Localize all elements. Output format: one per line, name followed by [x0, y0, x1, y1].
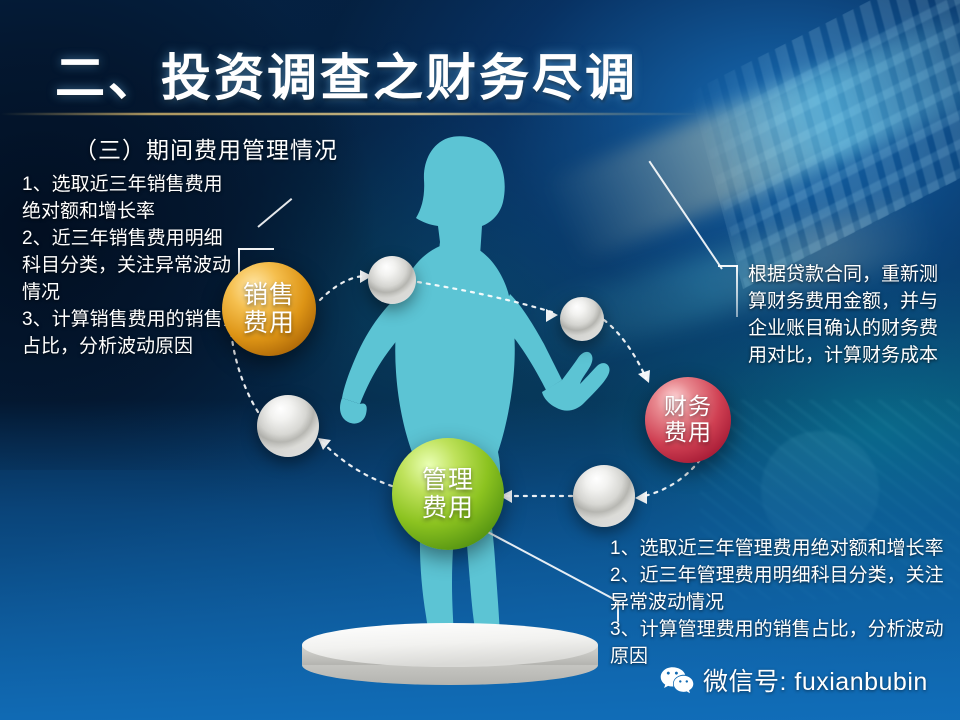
callout-line: 2、近三年管理费用明细科目分类，关注异常波动情况	[610, 563, 955, 617]
node-silver-2[interactable]	[560, 297, 604, 341]
callout-line: 1、选取近三年销售费用绝对额和增长率	[22, 172, 234, 226]
slide-title: 二、投资调查之财务尽调	[55, 38, 638, 110]
title-divider	[0, 113, 700, 115]
callout-line: 3、计算销售费用的销售占比，分析波动原因	[22, 307, 234, 361]
node-silver-3[interactable]	[257, 395, 319, 457]
node-admin-label-line2: 费用	[422, 494, 474, 522]
slide-subtitle: （三）期间费用管理情况	[74, 131, 338, 165]
wechat-icon	[660, 666, 694, 694]
pedestal-disc	[300, 617, 600, 687]
callout-text-admin: 1、选取近三年管理费用绝对额和增长率2、近三年管理费用明细科目分类，关注异常波动…	[610, 536, 955, 671]
leader-line-sales-horizontal	[238, 248, 274, 250]
node-admin-expense[interactable]: 管理 费用	[392, 438, 504, 550]
node-admin-label-line1: 管理	[422, 466, 474, 494]
node-silver-4[interactable]	[573, 465, 635, 527]
node-sales-label-line2: 费用	[243, 309, 295, 337]
node-finance-label-line1: 财务	[664, 394, 712, 420]
callout-line: 1、选取近三年管理费用绝对额和增长率	[610, 536, 955, 563]
leader-line-finance-vertical	[736, 265, 738, 317]
watermark: 微信号: fuxianbubin	[660, 662, 928, 698]
presentation-slide: 二、投资调查之财务尽调 （三）期间费用管理情况	[0, 0, 960, 720]
woman-silhouette-icon	[330, 130, 620, 650]
callout-text-sales: 1、选取近三年销售费用绝对额和增长率2、近三年销售费用明细科目分类，关注异常波动…	[22, 172, 234, 361]
node-finance-label-line2: 费用	[664, 420, 712, 446]
node-finance-expense[interactable]: 财务 费用	[645, 377, 731, 463]
watermark-label: 微信号: fuxianbubin	[703, 662, 928, 698]
node-silver-1[interactable]	[368, 256, 416, 304]
node-sales-expense[interactable]: 销售 费用	[222, 262, 316, 356]
node-sales-label-line1: 销售	[243, 281, 295, 309]
callout-text-finance: 根据贷款合同，重新测算财务费用金额，并与企业账目确认的财务费用对比，计算财务成本	[748, 262, 953, 370]
callout-line: 2、近三年销售费用明细科目分类，关注异常波动情况	[22, 226, 234, 307]
